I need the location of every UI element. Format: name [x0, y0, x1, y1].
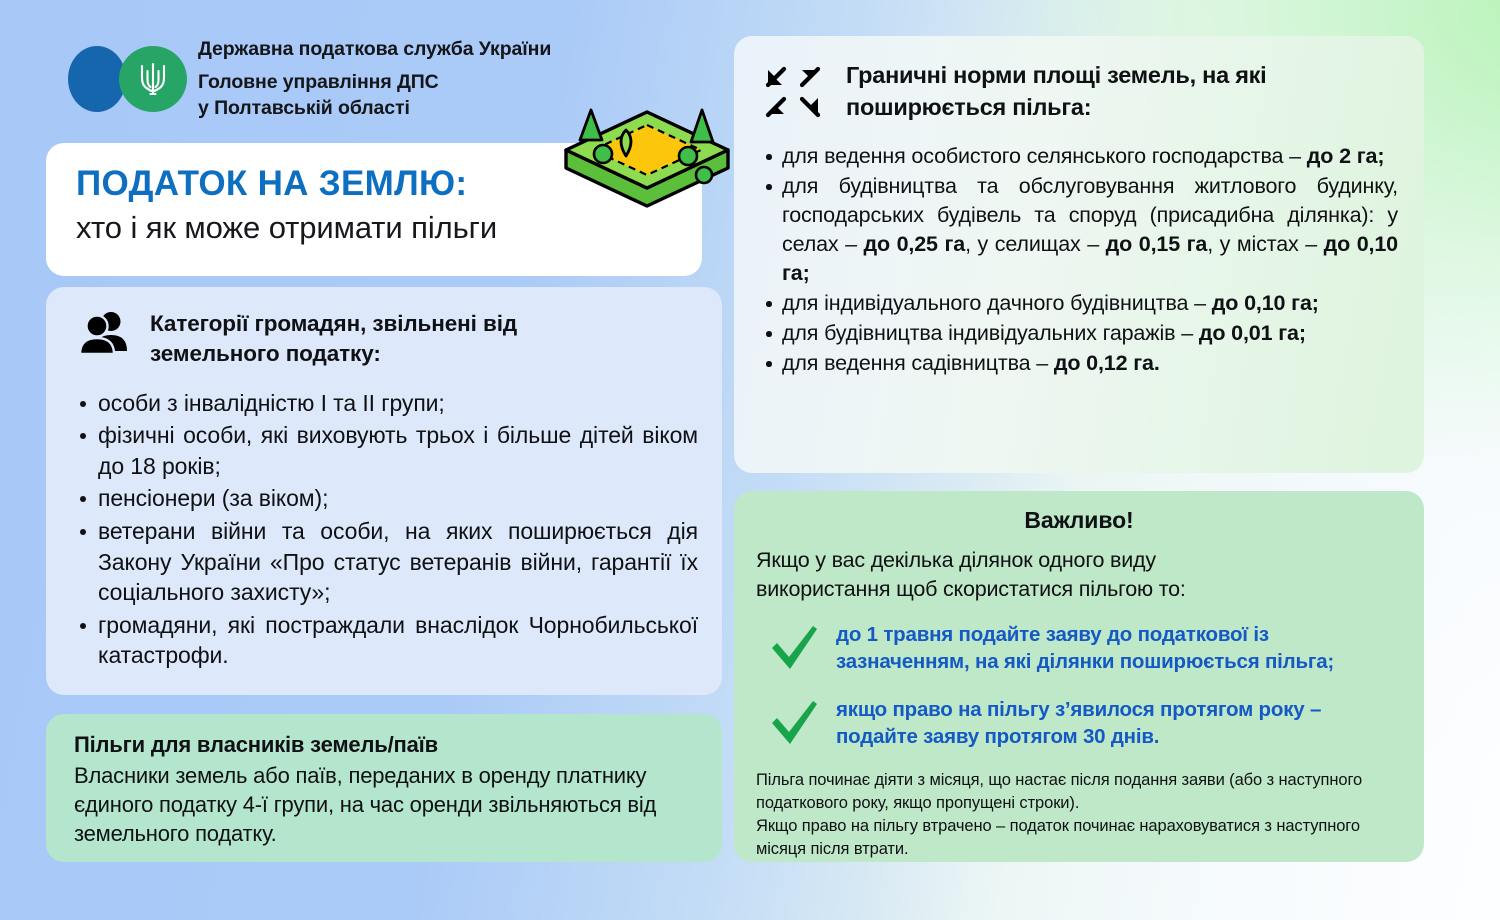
limit-value: до 2 га;	[1307, 144, 1385, 168]
logo-blue-circle	[68, 46, 126, 112]
limit-text: для будівництва індивідуальних гаражів –	[782, 321, 1199, 345]
expand-arrows-icon	[762, 63, 824, 126]
people-group-icon	[78, 311, 130, 360]
limits-list: для ведення особистого селянського госпо…	[756, 142, 1398, 378]
land-plot-isometric-icon	[556, 92, 738, 212]
list-item: фізичні особи, які виховують трьох і біл…	[68, 420, 698, 481]
limit-text: для індивідуального дачного будівництва …	[782, 291, 1212, 315]
check-item: якщо право на пільгу з’явилося протягом …	[756, 695, 1402, 752]
important-card: Важливо! Якщо у вас декілька ділянок одн…	[734, 491, 1424, 862]
green-checkmark-icon	[768, 624, 820, 677]
limit-value: до 0,10 га;	[1212, 291, 1319, 315]
limit-value: до 0,01 га;	[1199, 321, 1306, 345]
list-item: ветерани війни та особи, на яких поширює…	[68, 516, 698, 608]
check-text: якщо право на пільгу з’явилося протягом …	[836, 695, 1402, 752]
green-checkmark-icon	[768, 699, 820, 752]
brand-line-2: Головне управління ДПС у Полтавській обл…	[198, 69, 551, 121]
fine-print-line-1: Пільга починає діяти з місяця, що настає…	[756, 769, 1402, 815]
limit-text-2: , у селищах –	[965, 232, 1106, 256]
page-subtitle: хто і як може отримати пільги	[76, 209, 672, 246]
brand-text: Державна податкова служба України Головн…	[190, 36, 551, 121]
fine-print: Пільга починає діяти з місяця, що настає…	[756, 769, 1402, 861]
categories-heading-line-1: Категорії громадян, звільнені від	[150, 309, 517, 339]
infographic-poster: Державна податкова служба України Головн…	[0, 0, 1500, 920]
list-item: особи з інвалідністю I та II групи;	[68, 388, 698, 419]
categories-heading: Категорії громадян, звільнені від земель…	[150, 307, 517, 370]
categories-header: Категорії громадян, звільнені від земель…	[68, 307, 698, 370]
important-lead: Якщо у вас декілька ділянок одного виду …	[756, 546, 1402, 604]
list-item: громадяни, які постраждали внаслідок Чор…	[68, 610, 698, 671]
limits-heading: Граничні норми площі земель, на які поши…	[846, 60, 1266, 124]
brand-line-2b: у Полтавській області	[198, 95, 551, 121]
limit-text: для ведення особистого селянського госпо…	[782, 144, 1307, 168]
limit-value: до 0,25 га	[864, 232, 966, 256]
limits-heading-line-2: поширюється пільга:	[846, 92, 1266, 124]
limits-heading-line-1: Граничні норми площі земель, на які	[846, 60, 1266, 92]
list-item: для ведення особистого селянського госпо…	[756, 142, 1398, 171]
right-column: Граничні норми площі земель, на які поши…	[734, 0, 1424, 920]
list-item: для будівництва та обслуговування житлов…	[756, 172, 1398, 288]
brand-line-1: Державна податкова служба України	[198, 36, 551, 62]
check-item: до 1 травня подайте заяву до податкової …	[756, 620, 1402, 677]
limit-text-3: , у містах –	[1207, 232, 1323, 256]
brand-header: Державна податкова служба України Головн…	[62, 36, 551, 121]
list-item: для індивідуального дачного будівництва …	[756, 289, 1398, 318]
ukraine-trident-icon	[136, 58, 170, 100]
area-limits-card: Граничні норми площі земель, на які поши…	[734, 36, 1424, 473]
limit-value: до 0,12 га.	[1054, 351, 1160, 375]
categories-list: особи з інвалідністю I та II групи; фізи…	[68, 388, 698, 671]
categories-heading-line-2: земельного податку:	[150, 339, 517, 369]
important-lead-line-1: Якщо у вас декілька ділянок одного виду	[756, 546, 1402, 575]
owners-benefits-card: Пільги для власників земель/паїв Власник…	[46, 714, 722, 862]
logo-green-circle	[119, 46, 187, 112]
list-item: для будівництва індивідуальних гаражів –…	[756, 319, 1398, 348]
limits-header: Граничні норми площі земель, на які поши…	[756, 60, 1398, 126]
fine-print-line-2: Якщо право на пільгу втрачено – податок …	[756, 815, 1402, 861]
dps-logo	[62, 46, 190, 112]
list-item: пенсіонери (за віком);	[68, 483, 698, 514]
important-lead-line-2: використання щоб скористатися пільгою то…	[756, 575, 1402, 604]
important-title: Важливо!	[756, 507, 1402, 534]
owners-title: Пільги для власників земель/паїв	[74, 732, 696, 758]
limit-value-2: до 0,15 га	[1106, 232, 1208, 256]
categories-card: Категорії громадян, звільнені від земель…	[46, 287, 722, 695]
check-text: до 1 травня подайте заяву до податкової …	[836, 620, 1402, 677]
brand-line-2a: Головне управління ДПС	[198, 69, 551, 95]
limit-text: для ведення садівництва –	[782, 351, 1054, 375]
owners-body: Власники земель або паїв, переданих в ор…	[74, 761, 696, 848]
list-item: для ведення садівництва – до 0,12 га.	[756, 349, 1398, 378]
